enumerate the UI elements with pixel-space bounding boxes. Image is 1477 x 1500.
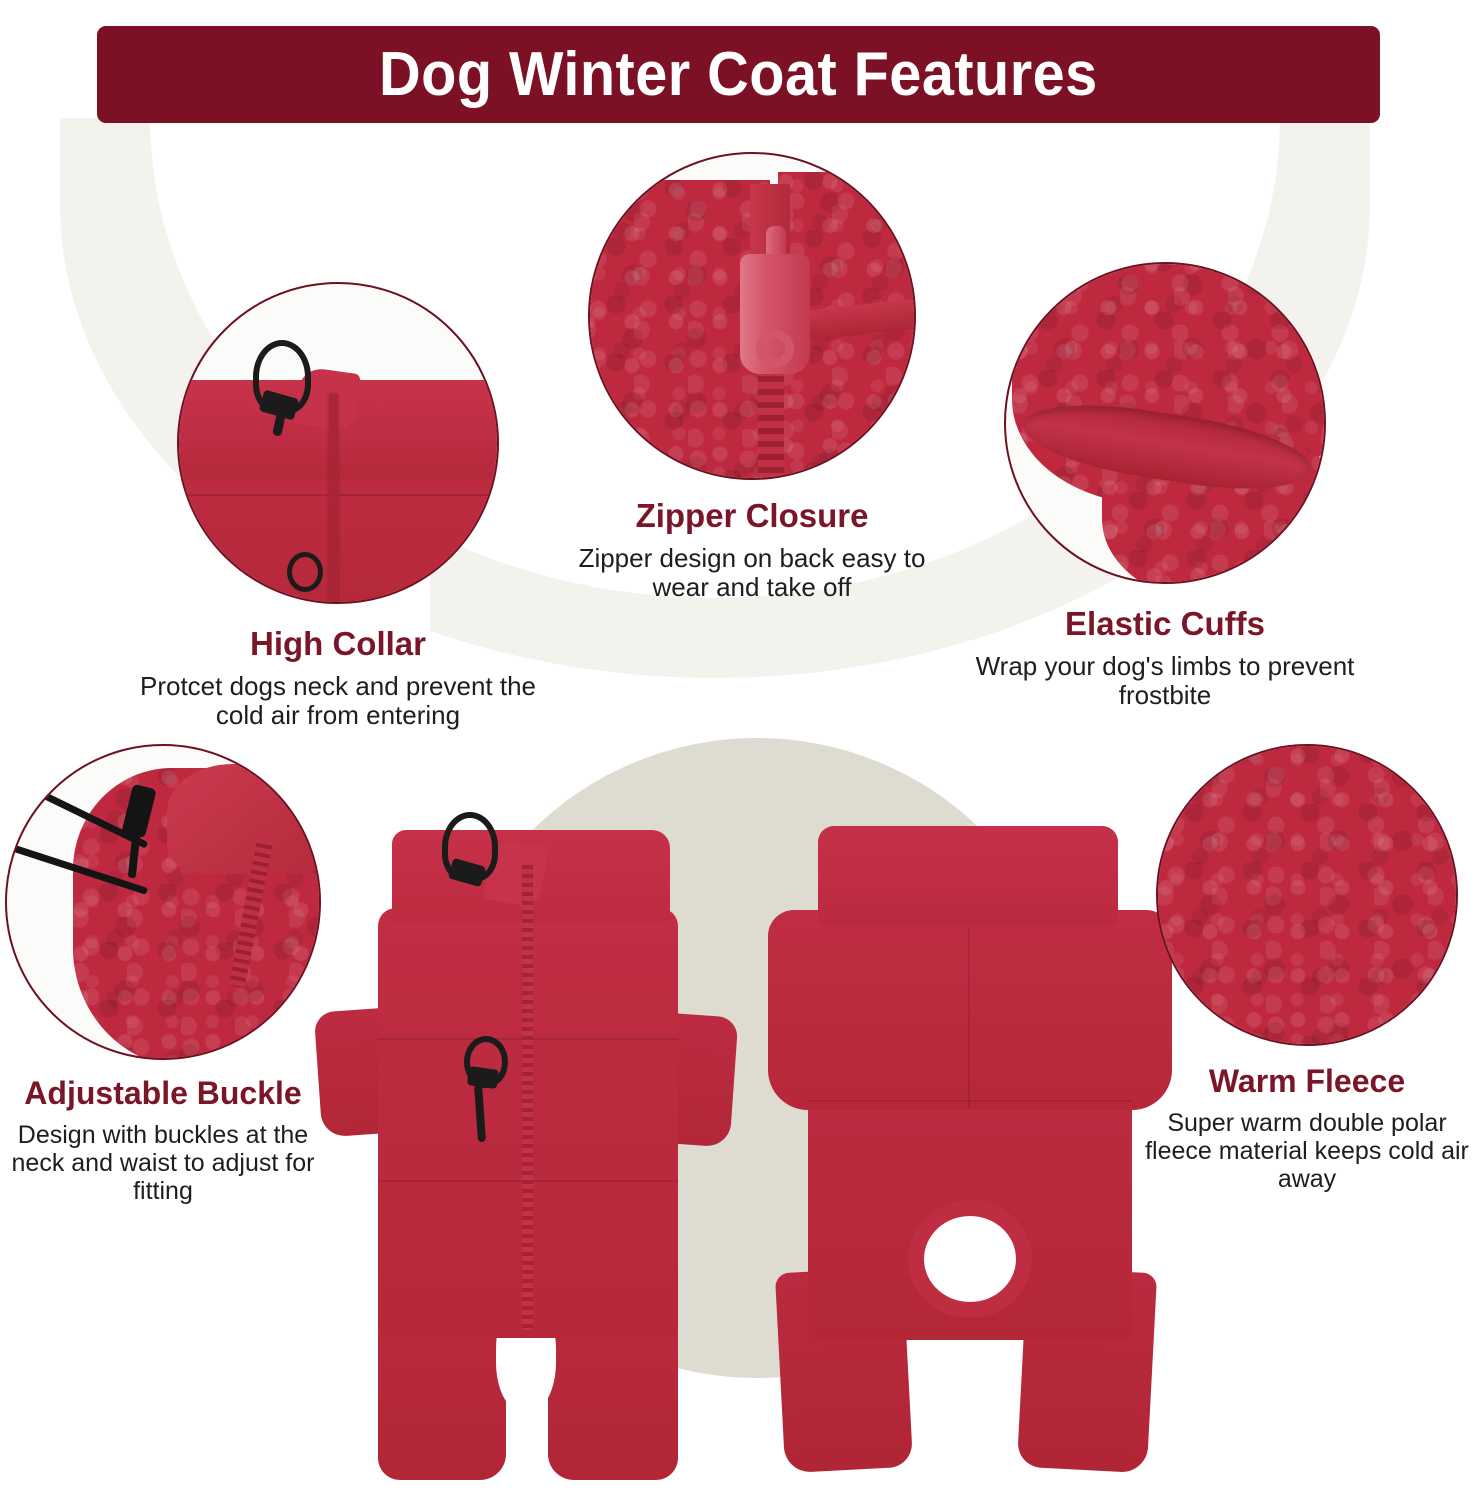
collar-seam-line — [177, 494, 499, 496]
feature-description: Protcet dogs neck and prevent the cold a… — [128, 672, 548, 730]
fleece-texture-fill — [1158, 746, 1456, 1044]
buckle-closeup-icon — [5, 744, 321, 1060]
collar-closeup-icon — [177, 282, 499, 604]
zipper-closeup-icon — [588, 152, 916, 480]
feature-adjustable-buckle: Adjustable Buckle Design with buckles at… — [2, 744, 324, 1205]
front-zipper — [522, 860, 533, 1330]
cuff-closeup-icon — [1004, 262, 1326, 584]
product-front-view — [300, 800, 730, 1500]
collar-body-fabric-shape — [177, 480, 499, 604]
feature-heading: Elastic Cuffs — [960, 606, 1370, 642]
fleece-texture-icon — [1156, 744, 1458, 1046]
feature-description: Wrap your dog's limbs to prevent frostbi… — [960, 652, 1370, 710]
feature-heading: High Collar — [128, 626, 548, 662]
back-shoulder-panel — [768, 910, 1172, 1110]
title-banner: Dog Winter Coat Features — [97, 26, 1380, 123]
front-waist-toggle-icon — [467, 1066, 499, 1089]
feature-description: Design with buckles at the neck and wais… — [2, 1121, 324, 1205]
feature-heading: Zipper Closure — [552, 498, 952, 534]
zipper-pull-ring — [756, 330, 794, 368]
back-center-seam — [968, 928, 970, 1108]
feature-heading: Adjustable Buckle — [2, 1076, 324, 1111]
back-tail-hole — [908, 1200, 1032, 1318]
feature-heading: Warm Fleece — [1142, 1064, 1472, 1099]
feature-high-collar: High Collar Protcet dogs neck and preven… — [128, 282, 548, 731]
product-back-view — [760, 800, 1180, 1500]
feature-elastic-cuffs: Elastic Cuffs Wrap your dog's limbs to p… — [960, 262, 1370, 711]
feature-description: Zipper design on back easy to wear and t… — [552, 544, 952, 602]
feature-warm-fleece: Warm Fleece Super warm double polar flee… — [1142, 744, 1472, 1193]
back-collar — [818, 826, 1118, 926]
page-title: Dog Winter Coat Features — [379, 39, 1098, 110]
lower-cord-loop-icon — [287, 552, 323, 592]
collar-zipper-line — [329, 394, 338, 604]
back-shoulder-seam — [808, 1100, 1132, 1102]
infographic-page: Dog Winter Coat Features High Collar Pro… — [0, 0, 1477, 1500]
feature-zipper-closure: Zipper Closure Zipper design on back eas… — [552, 152, 952, 603]
buckle-fabric-fold — [167, 764, 317, 874]
feature-description: Super warm double polar fleece material … — [1142, 1109, 1472, 1193]
